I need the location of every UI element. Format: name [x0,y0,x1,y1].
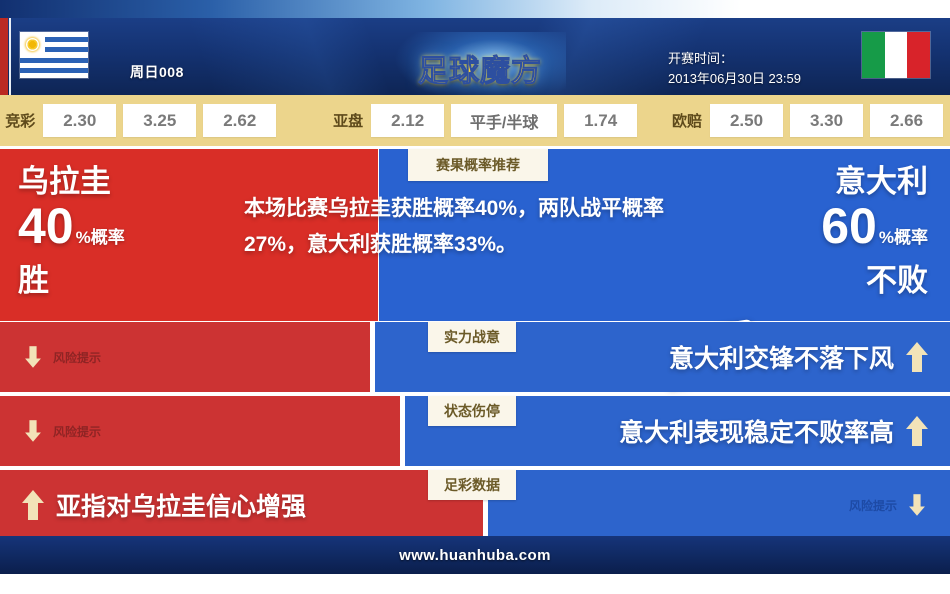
row-left-note-text: 风险提示 [53,349,101,366]
arrow-up-icon [906,342,928,372]
odds-group-yapan: 亚盘 2.12 平手/半球 1.74 [333,104,644,137]
kickoff-label: 开赛时间： [668,49,801,69]
home-outcome: 胜 [18,263,125,299]
row-right-note: 风险提示 [849,490,928,520]
away-probability-suffix: %概率 [879,213,928,263]
home-prediction-text: 乌拉圭 40 %概率 胜 [18,163,125,299]
row-right-headline: 意大利表现稳定不败率高 [619,413,928,449]
odds-bar: 竞彩 2.30 3.25 2.62 亚盘 2.12 平手/半球 1.74 欧赔 … [0,95,950,146]
arrow-down-icon [25,420,41,442]
away-team-flag [862,32,930,78]
main-prediction-panel: 乌拉圭 40 %概率 胜 意大利 60 %概率 不败 赛果概率推荐 本场比赛乌拉… [0,149,950,321]
odds-cell-oupei-draw[interactable]: 3.30 [790,104,863,137]
home-team-flag [20,32,88,78]
row-left-note: 风险提示 [22,416,101,446]
odds-cell-oupei-home[interactable]: 2.50 [710,104,783,137]
arrow-down-icon [25,346,41,368]
odds-cell-yapan-away[interactable]: 1.74 [564,104,637,137]
odds-label-yapan: 亚盘 [333,110,363,131]
factor-row: 风险提示 意大利交锋不落下风 实力战意 [0,322,950,392]
odds-label-oupei: 欧赔 [672,110,702,131]
home-probability-value: 40 [18,201,74,251]
header-white-accent [9,18,11,95]
odds-label-jingcai: 竞彩 [5,110,35,131]
odds-group-oupei: 欧赔 2.50 3.30 2.66 [672,104,950,137]
factor-row: 亚指对乌拉圭信心增强 风险提示 足彩数据 [0,470,950,540]
odds-cell-jingcai-home[interactable]: 2.30 [43,104,116,137]
odds-cell-oupei-away[interactable]: 2.66 [870,104,943,137]
row-right-headline: 意大利交锋不落下风 [669,339,928,375]
section-tab-strength-motivation: 实力战意 [428,322,516,352]
footer-bar: www.huanhuba.com [0,536,950,574]
row-left-headline: 亚指对乌拉圭信心增强 [22,487,306,523]
prediction-description: 本场比赛乌拉圭获胜概率40%，两队战平概率27%，意大利获胜概率33%。 [244,191,674,263]
logo-text: 足球魔方 [418,46,542,90]
factor-rows: 风险提示 意大利交锋不落下风 实力战意 风险提示 意大利表现稳定不败率高 状态伤… [0,322,950,544]
odds-group-jingcai: 竞彩 2.30 3.25 2.62 [5,104,283,137]
away-outcome: 不败 [821,263,928,299]
odds-cell-jingcai-draw[interactable]: 3.25 [123,104,196,137]
row-left-note-text: 风险提示 [53,423,101,440]
home-team-name: 乌拉圭 [18,163,125,201]
factor-row: 风险提示 意大利表现稳定不败率高 状态伤停 [0,396,950,466]
header-top-gradient [0,0,950,19]
sun-of-may-icon [26,38,39,51]
kickoff-time: 开赛时间： 2013年06月30日 23:59 [668,49,801,89]
away-probability-value: 60 [821,201,877,251]
away-prediction-text: 意大利 60 %概率 不败 [821,163,928,299]
footer-url[interactable]: www.huanhuba.com [399,547,551,564]
arrow-up-icon [906,416,928,446]
arrow-up-icon [22,490,44,520]
match-number: 周日008 [130,62,184,82]
row-right-headline-text: 意大利交锋不落下风 [669,339,894,375]
kickoff-value: 2013年06月30日 23:59 [668,69,801,89]
italy-flag [862,32,930,78]
home-probability-suffix: %概率 [76,213,125,263]
site-logo: 足球魔方 [410,44,550,92]
arrow-down-icon [909,494,925,516]
uruguay-flag [20,32,88,78]
row-right-headline-text: 意大利表现稳定不败率高 [619,413,894,449]
header-red-accent [0,18,8,95]
bottom-spacer [0,574,950,594]
odds-cell-yapan-handicap[interactable]: 平手/半球 [451,104,557,137]
away-team-name: 意大利 [821,163,928,201]
infographic-page: 足球魔方 周日008 开赛时间： 2013年06月30日 23:59 竞彩 2.… [0,0,950,594]
section-tab-result-probability: 赛果概率推荐 [408,149,548,181]
odds-cell-jingcai-away[interactable]: 2.62 [203,104,276,137]
row-left-note: 风险提示 [22,342,101,372]
section-tab-betting-data: 足彩数据 [428,470,516,500]
header-bar: 足球魔方 周日008 开赛时间： 2013年06月30日 23:59 [0,18,950,95]
row-left-headline-text: 亚指对乌拉圭信心增强 [56,487,306,523]
row-right-note-text: 风险提示 [849,497,897,514]
odds-cell-yapan-home[interactable]: 2.12 [371,104,444,137]
section-tab-form-injury: 状态伤停 [428,396,516,426]
